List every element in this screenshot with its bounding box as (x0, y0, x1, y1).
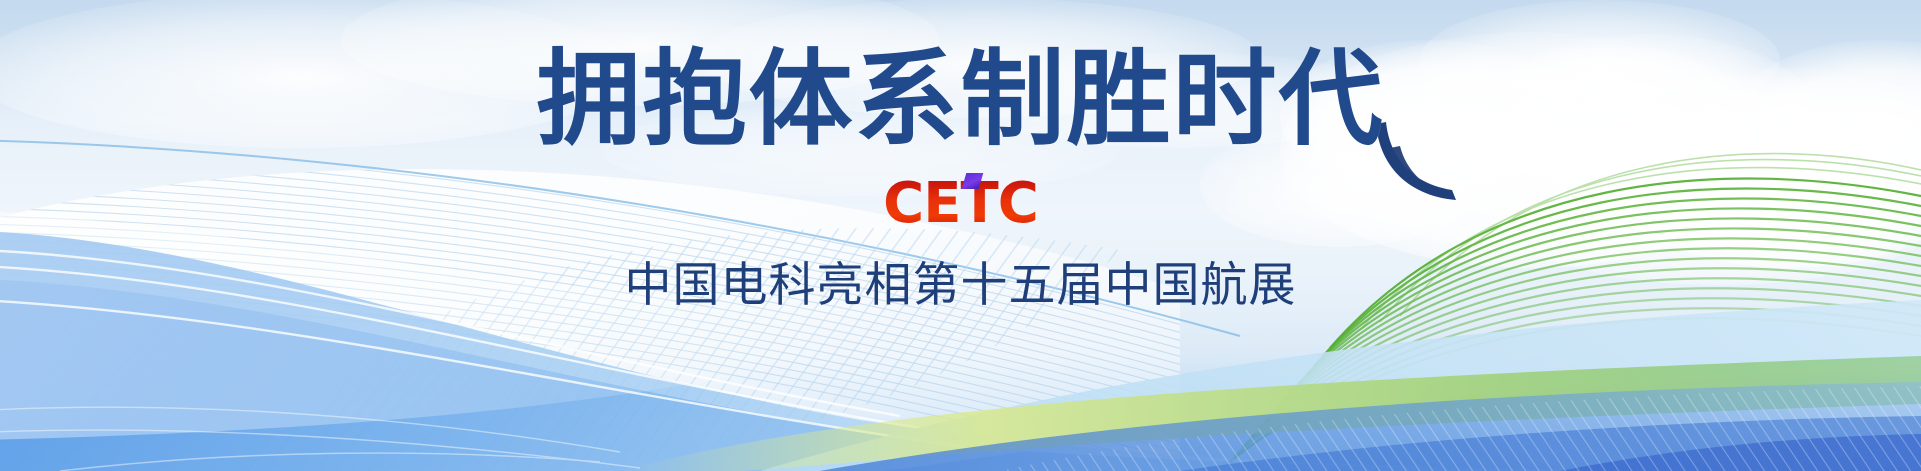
cetc-wordmark: CETC (883, 176, 1038, 232)
page-title: 拥抱体系制胜时代 (536, 44, 1384, 154)
banner-content: 拥抱体系制胜时代 CETC 中国电科亮相第十五届中国航展 (0, 0, 1921, 471)
cetc-airshow-banner: 拥抱体系制胜时代 CETC 中国电科亮相第十五届中国航展 (0, 0, 1921, 471)
banner-subtitle: 中国电科亮相第十五届中国航展 (625, 262, 1297, 309)
cetc-logo: CETC (883, 176, 1038, 232)
